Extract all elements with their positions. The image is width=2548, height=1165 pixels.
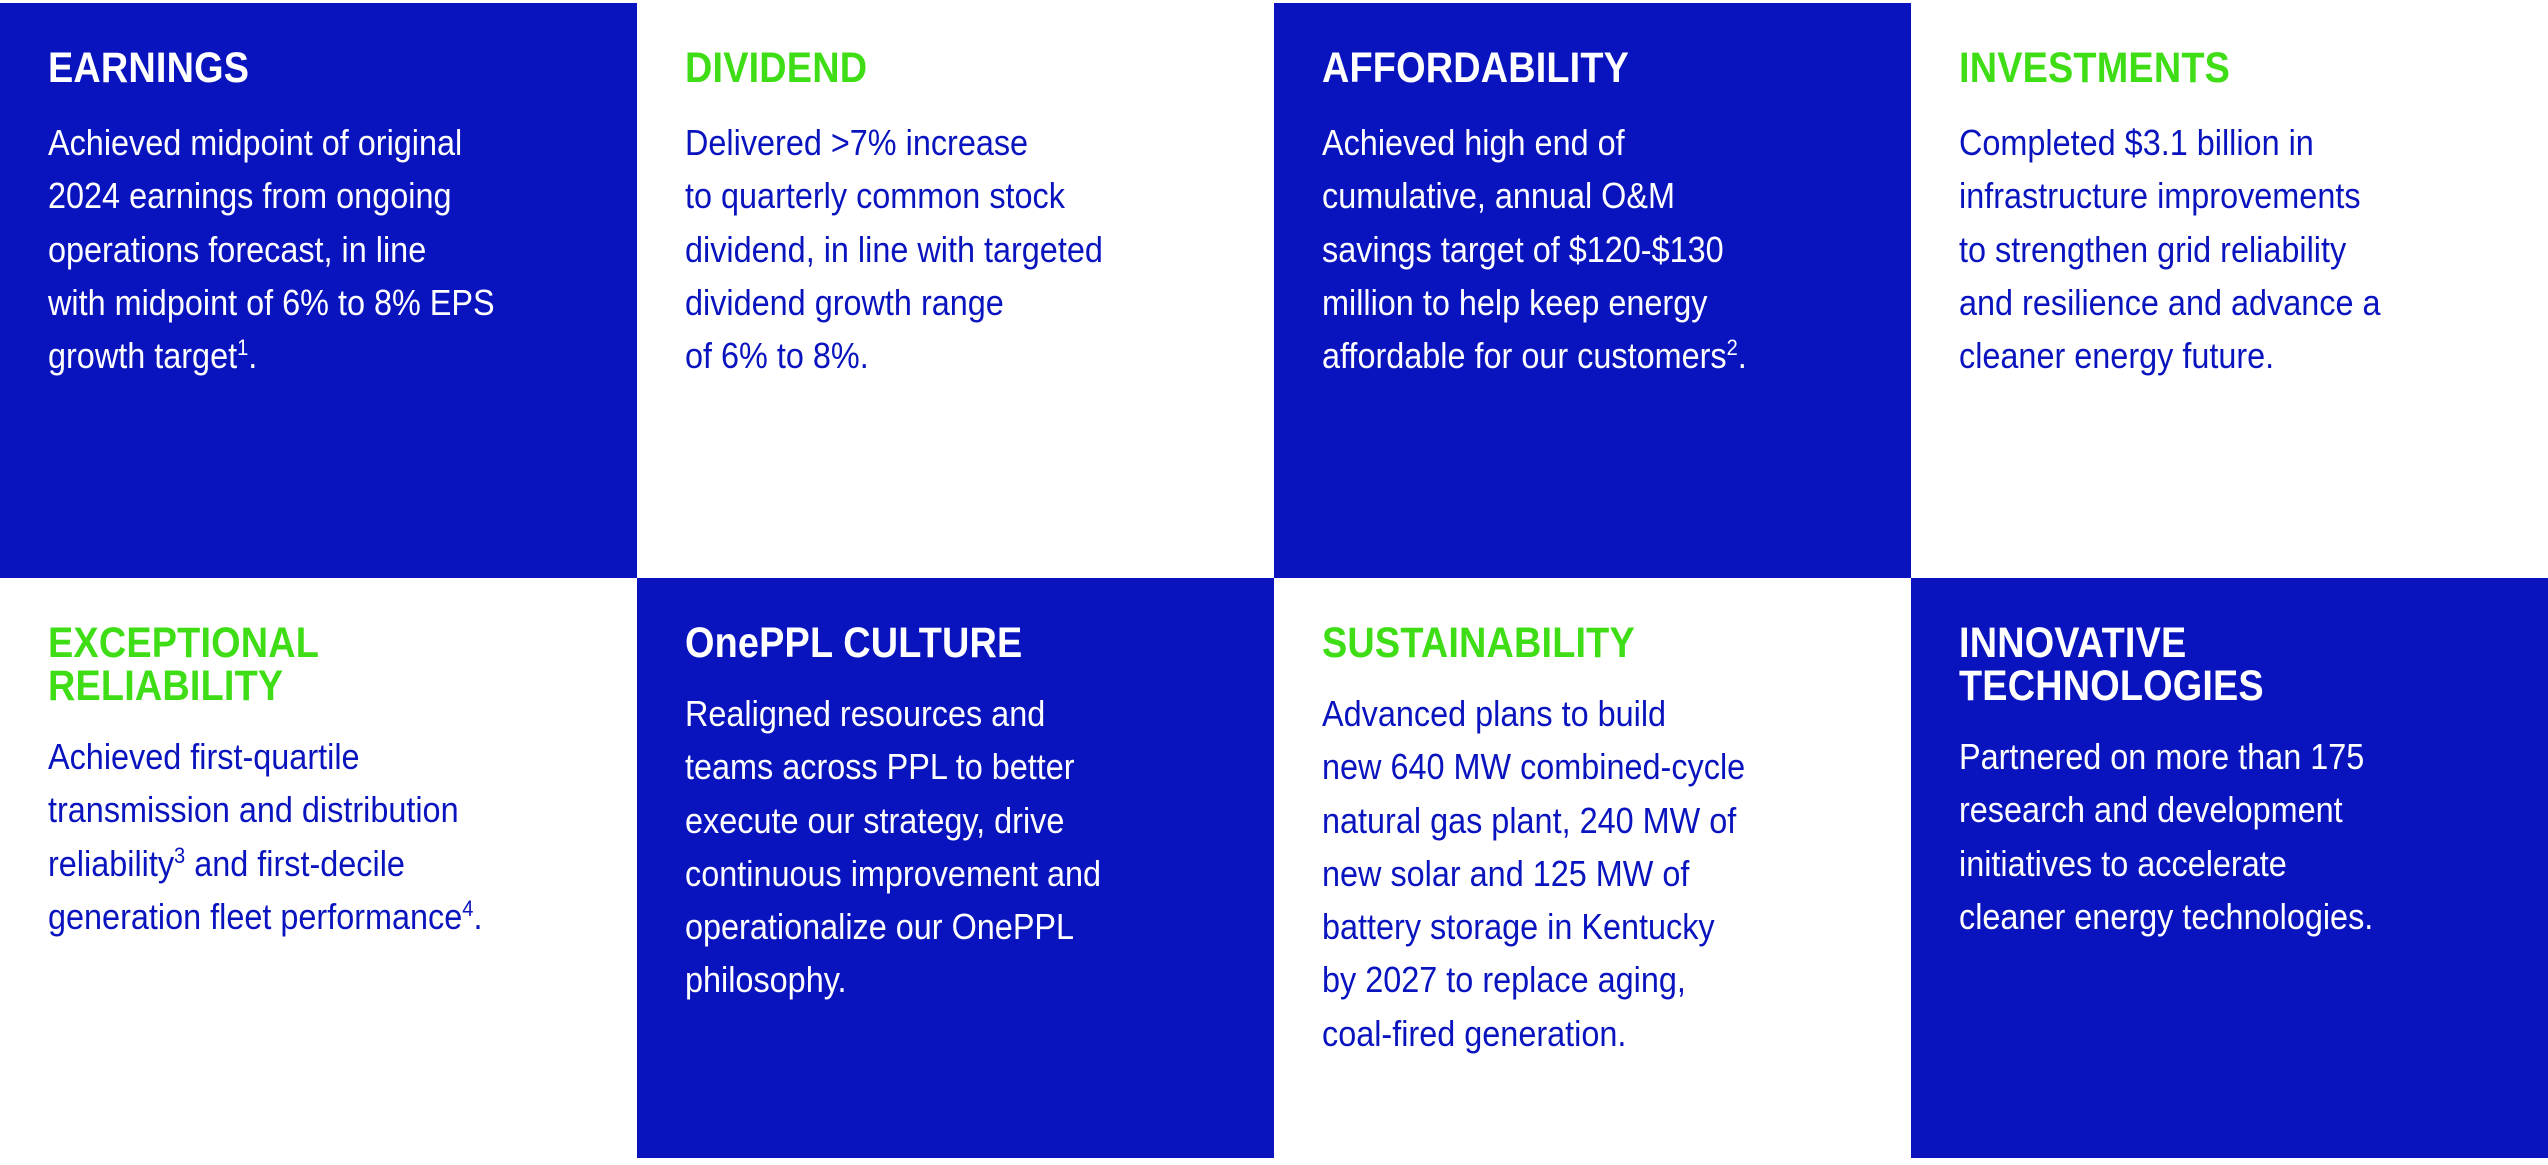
card-body-text: Achieved high end of cumulative, annual … [1322,122,1727,376]
footnote-marker: 1 [237,335,248,360]
card-innovative-technologies: INNOVATIVE TECHNOLOGIES Partnered on mor… [1911,578,2548,1158]
card-body-text: Completed $3.1 billion in infrastructure… [1959,122,2381,376]
highlights-board: EARNINGS Achieved midpoint of original 2… [0,0,2548,1165]
card-body-text: Realigned resources and teams across PPL… [685,693,1101,1000]
footnote-marker: 2 [1727,335,1738,360]
card-earnings: EARNINGS Achieved midpoint of original 2… [0,3,637,578]
card-title-dividend: DIVIDEND [685,47,1159,90]
card-oneppl-culture: OnePPL CULTURE Realigned resources and t… [637,578,1274,1158]
card-body-investments: Completed $3.1 billion in infrastructure… [1959,116,2444,382]
card-body-text: Advanced plans to build new 640 MW combi… [1322,693,1745,1054]
card-body-earnings: Achieved midpoint of original 2024 earni… [48,116,533,382]
card-body-affordability: Achieved high end of cumulative, annual … [1322,116,1807,382]
card-sustainability: SUSTAINABILITY Advanced plans to build n… [1274,578,1911,1158]
card-body-dividend: Delivered >7% increase to quarterly comm… [685,116,1170,382]
card-title-affordability: AFFORDABILITY [1322,47,1796,90]
footnote-marker-2: 4 [462,896,473,921]
card-body-sustainability: Advanced plans to build new 640 MW combi… [1322,687,1807,1060]
card-title-innovative-technologies: INNOVATIVE TECHNOLOGIES [1959,622,2433,708]
card-affordability: AFFORDABILITY Achieved high end of cumul… [1274,3,1911,578]
card-title-investments: INVESTMENTS [1959,47,2433,90]
card-title-sustainability: SUSTAINABILITY [1322,622,1796,665]
footnote-marker: 3 [174,843,185,868]
card-investments: INVESTMENTS Completed $3.1 billion in in… [1911,3,2548,578]
card-exceptional-reliability: EXCEPTIONAL RELIABILITY Achieved first-q… [0,578,637,1158]
card-body-oneppl-culture: Realigned resources and teams across PPL… [685,687,1170,1007]
highlights-grid: EARNINGS Achieved midpoint of original 2… [0,3,2548,1158]
card-body-text: Delivered >7% increase to quarterly comm… [685,122,1103,376]
card-body-text: Partnered on more than 175 research and … [1959,736,2373,937]
card-dividend: DIVIDEND Delivered >7% increase to quart… [637,3,1274,578]
card-body-text: Achieved midpoint of original 2024 earni… [48,122,495,376]
card-title-exceptional-reliability: EXCEPTIONAL RELIABILITY [48,622,522,708]
card-title-earnings: EARNINGS [48,47,522,90]
card-title-oneppl-culture: OnePPL CULTURE [685,622,1159,665]
card-body-suffix-2: . [473,896,482,937]
card-body-innovative-technologies: Partnered on more than 175 research and … [1959,730,2444,943]
card-body-exceptional-reliability: Achieved first-quartile transmission and… [48,730,533,943]
card-body-suffix: . [1738,335,1747,376]
card-body-suffix: . [248,335,257,376]
